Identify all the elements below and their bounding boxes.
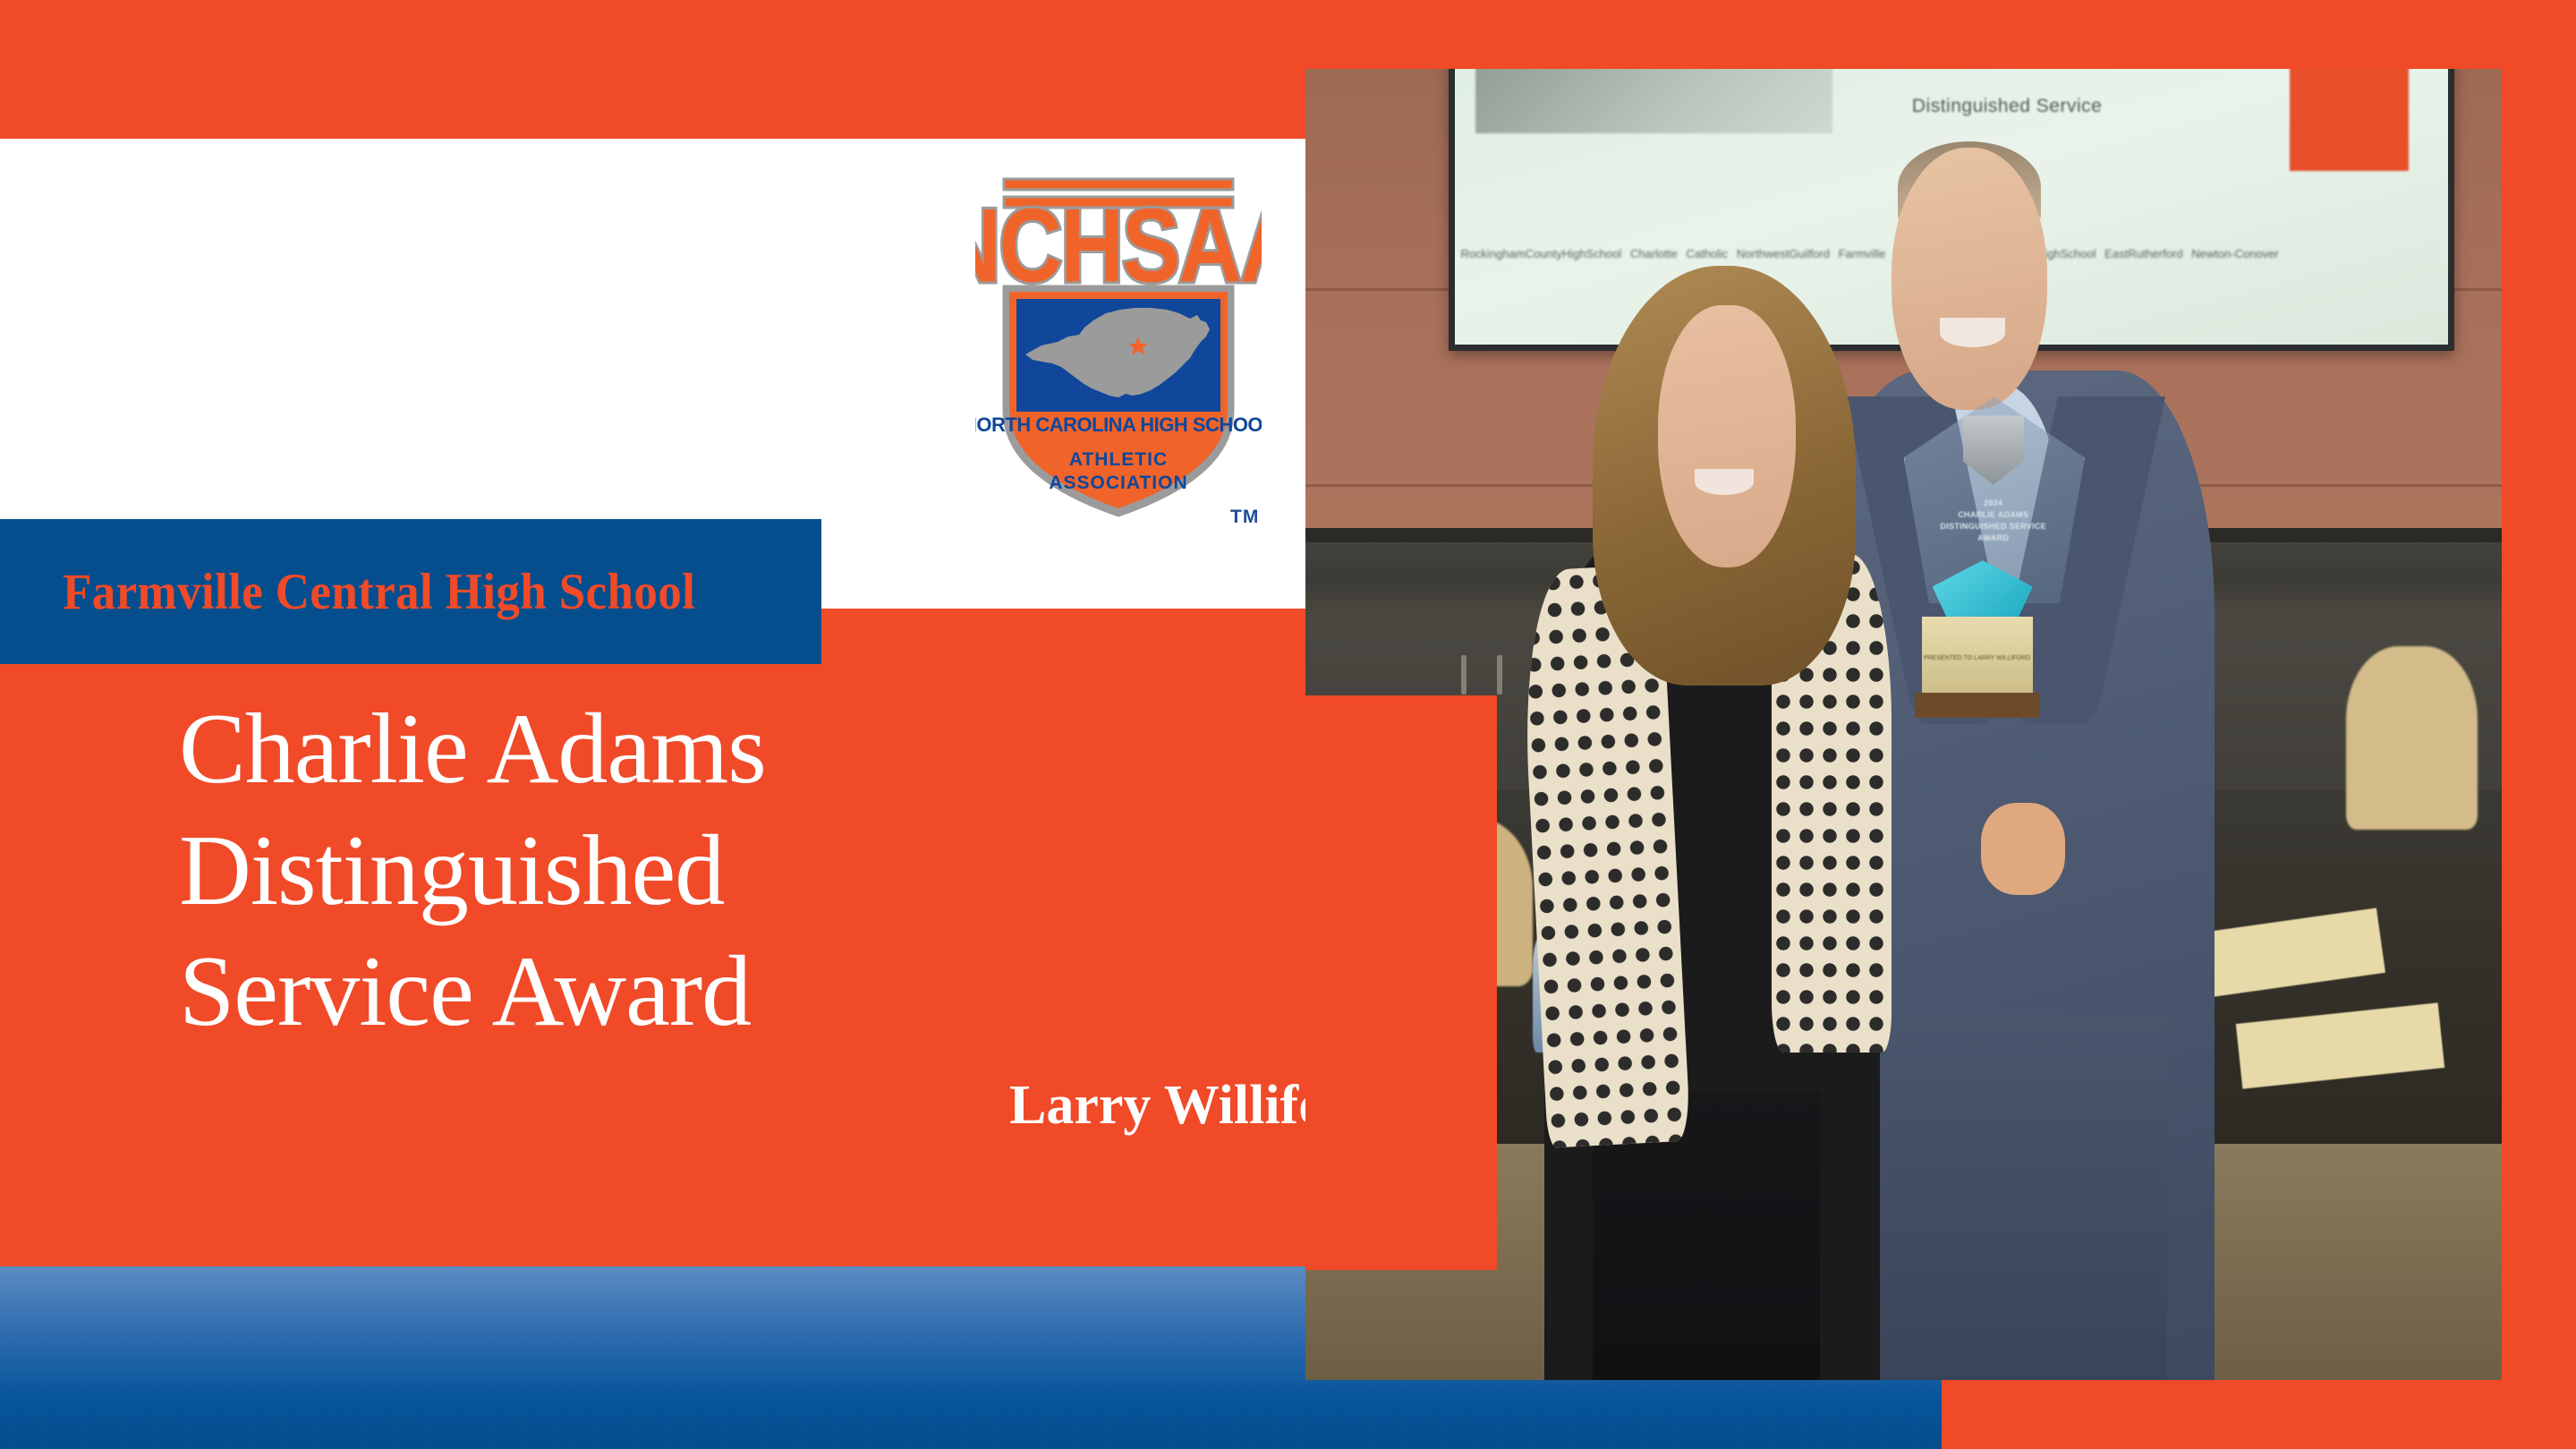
svg-text:ASSOCIATION: ASSOCIATION <box>1049 473 1187 493</box>
screen-orange-block <box>2290 69 2409 171</box>
svg-text:NORTH CAROLINA HIGH SCHOOL: NORTH CAROLINA HIGH SCHOOL <box>975 413 1262 436</box>
photo-man-smile <box>1940 318 2006 346</box>
photo-man-head <box>1892 148 2047 410</box>
svg-text:ATHLETIC: ATHLETIC <box>1069 449 1168 470</box>
plaque-name-plate: PRESENTED TO LARRY WILLIFORD <box>1922 617 2033 698</box>
plaque-base <box>1915 693 2040 718</box>
nchsaa-logo: NCHSAA NORTH CAROLINA HIGH SCHOOL ATHLET… <box>975 170 1279 555</box>
award-title-line-2: Distinguished <box>179 811 1235 933</box>
trademark-symbol: TM <box>1230 507 1259 528</box>
poster-canvas: NCHSAA NORTH CAROLINA HIGH SCHOOL ATHLET… <box>0 0 2576 1449</box>
screen-title-text: Distinguished Service <box>1912 96 2102 117</box>
photo-award-plaque: 2024 CHARLIE ADAMS DISTINGUISHED SERVICE… <box>1904 396 2084 712</box>
photo-man-legs <box>1856 1013 2167 1380</box>
school-name-label: Farmville Central High School <box>63 563 695 621</box>
screen-banner-graphic <box>1475 69 1832 133</box>
photo-woman-face <box>1658 305 1796 567</box>
award-title-line-3: Service Award <box>179 932 1235 1053</box>
school-name-banner: Farmville Central High School <box>0 519 821 664</box>
award-presentation-photo: Distinguished Service RockinghamCountyHi… <box>1305 69 2502 1380</box>
orange-overlay-block <box>1305 695 1497 1270</box>
award-title-line-1: Charlie Adams <box>179 689 1235 811</box>
plaque-engraving: 2024 CHARLIE ADAMS DISTINGUISHED SERVICE… <box>1918 498 2069 544</box>
nchsaa-logo-icon: NCHSAA NORTH CAROLINA HIGH SCHOOL ATHLET… <box>975 170 1262 528</box>
award-title: Charlie Adams Distinguished Service Awar… <box>179 689 1235 1053</box>
photo-woman-smile <box>1695 469 1755 495</box>
photo-man-hand <box>1981 803 2065 895</box>
photo-chair-right <box>2346 646 2478 830</box>
